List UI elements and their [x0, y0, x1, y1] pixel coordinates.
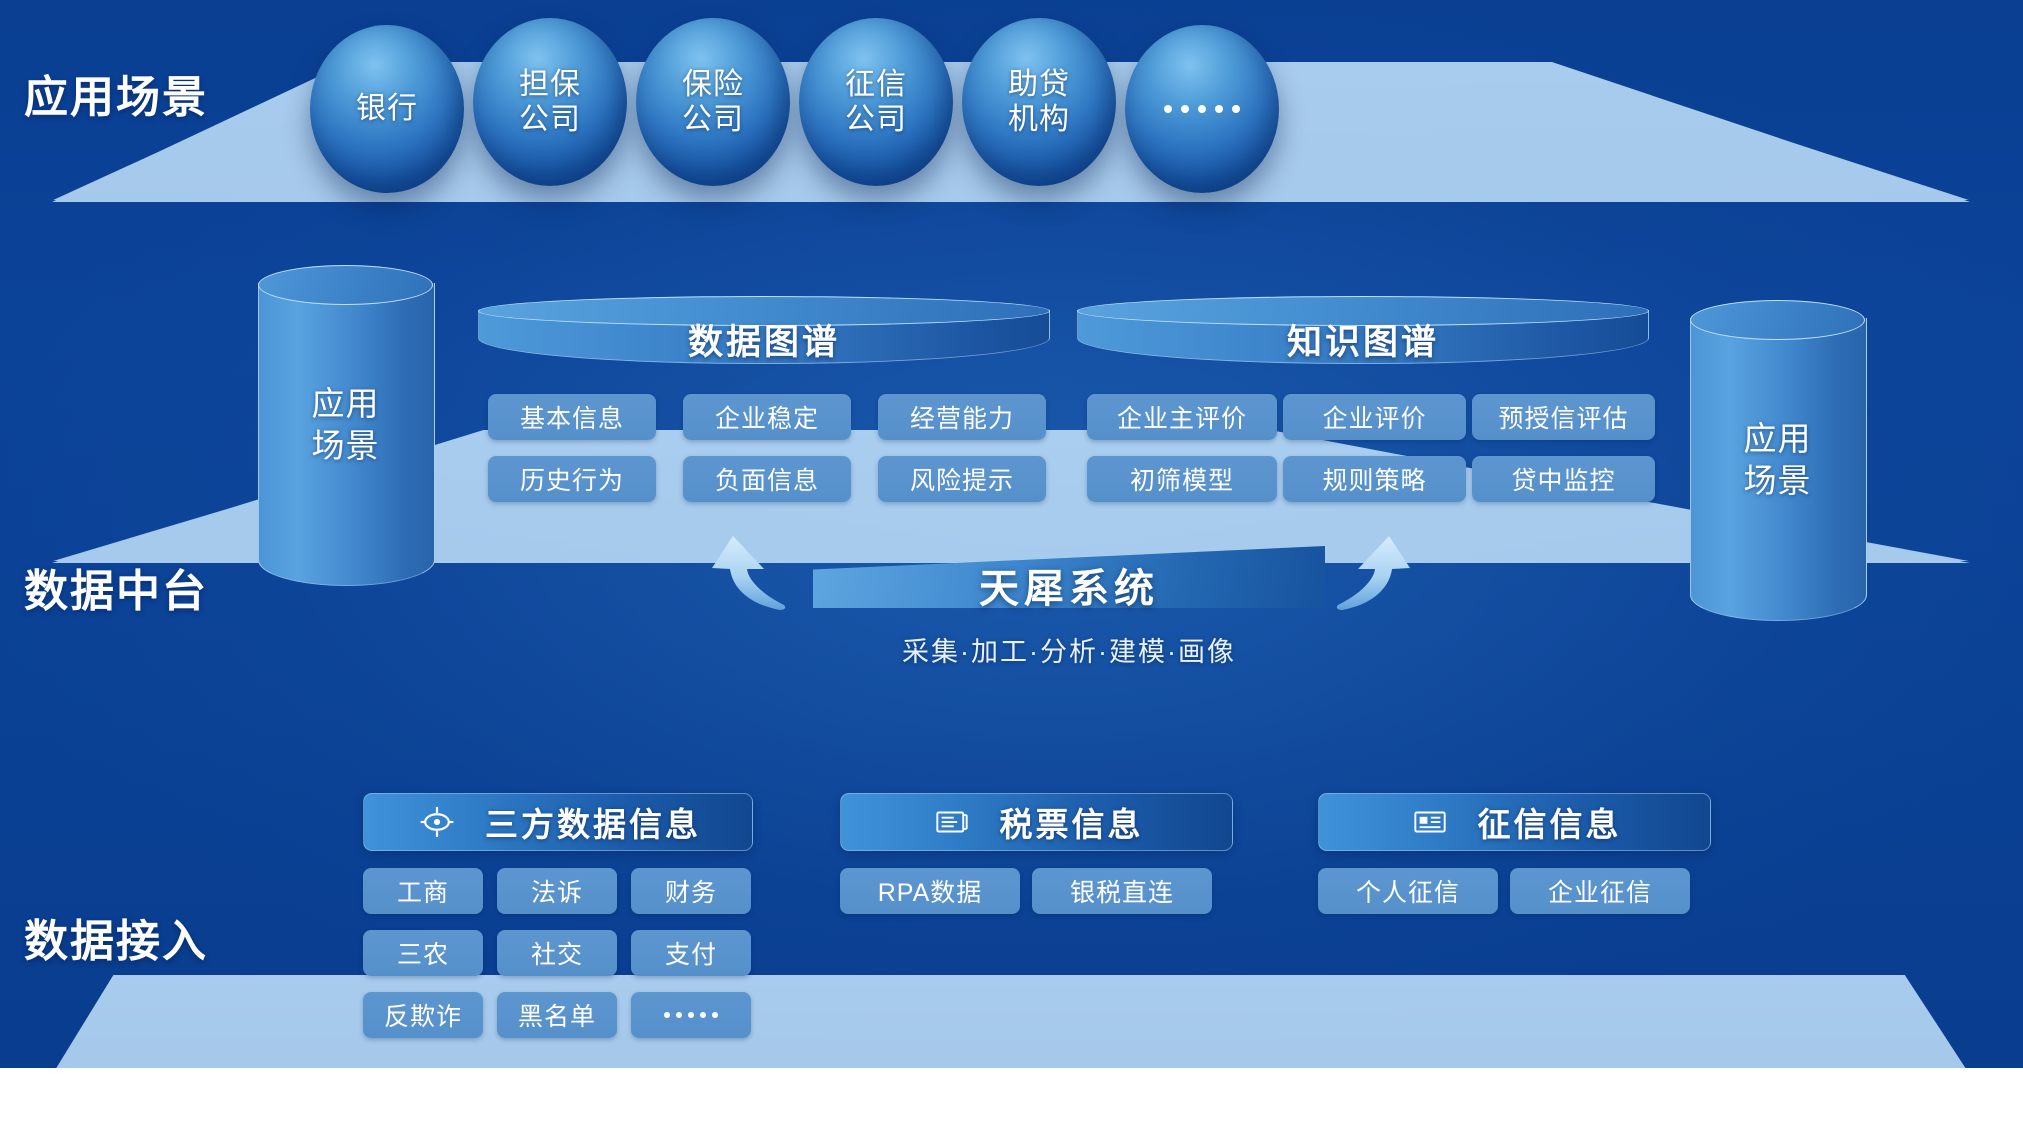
source-title: 征信信息	[1478, 798, 1622, 846]
curved-arrow-left-icon	[710, 528, 796, 620]
source-header-credit-report[interactable]: 征信信息	[1318, 793, 1711, 851]
bottom-white-strip	[0, 1068, 2023, 1130]
pill-data-graph-4[interactable]: 历史行为	[488, 456, 656, 502]
data-graph-title: 数据图谱	[478, 314, 1050, 365]
platform-edge	[52, 975, 1970, 1075]
pill-knowledge-graph-5[interactable]: 规则策略	[1283, 456, 1466, 502]
section-label-data-platform: 数据中台	[24, 570, 208, 614]
pill-third-party-2[interactable]: 法诉	[497, 868, 617, 914]
source-header-third-party-data[interactable]: 三方数据信息	[363, 793, 753, 851]
pill-third-party-7[interactable]: 反欺诈	[363, 992, 483, 1038]
ellipsis-icon	[1164, 105, 1240, 113]
cylinder-application-left[interactable]: 应用 场景	[258, 265, 433, 585]
system-subtitle: 采集·加工·分析·建模·画像	[813, 630, 1325, 669]
pill-third-party-3[interactable]: 财务	[631, 868, 751, 914]
pill-knowledge-graph-2[interactable]: 企业评价	[1283, 394, 1466, 440]
pill-credit-2[interactable]: 企业征信	[1510, 868, 1690, 914]
sphere-bank[interactable]: 银行	[310, 25, 464, 193]
pill-tax-1[interactable]: RPA数据	[840, 868, 1020, 914]
pill-knowledge-graph-3[interactable]: 预授信评估	[1472, 394, 1655, 440]
sphere-credit[interactable]: 征信 公司	[799, 18, 953, 186]
pill-data-graph-1[interactable]: 基本信息	[488, 394, 656, 440]
pill-data-graph-6[interactable]: 风险提示	[878, 456, 1046, 502]
curved-arrow-right-icon	[1326, 528, 1412, 620]
pill-third-party-9[interactable]	[631, 992, 751, 1038]
sphere-insurance[interactable]: 保险 公司	[636, 18, 790, 186]
pill-third-party-4[interactable]: 三农	[363, 930, 483, 976]
sphere-label: 银行	[356, 91, 418, 126]
cylinder-cap	[1690, 300, 1865, 340]
ellipsis-icon	[664, 1012, 718, 1018]
system-title: 天犀系统	[813, 554, 1325, 616]
pill-knowledge-graph-6[interactable]: 贷中监控	[1472, 456, 1655, 502]
knowledge-graph-cylinder[interactable]: 知识图谱	[1077, 296, 1649, 368]
sphere-loanassist[interactable]: 助贷 机构	[962, 18, 1116, 186]
pill-data-graph-2[interactable]: 企业稳定	[683, 394, 851, 440]
source-title: 三方数据信息	[485, 798, 701, 846]
sphere-guarantee[interactable]: 担保 公司	[473, 18, 627, 186]
pill-third-party-6[interactable]: 支付	[631, 930, 751, 976]
cylinder-label: 应用 场景	[1690, 418, 1865, 502]
cylinder-label: 应用 场景	[258, 383, 433, 467]
sphere-label: 担保 公司	[519, 67, 581, 138]
pill-knowledge-graph-4[interactable]: 初筛模型	[1087, 456, 1277, 502]
id-card-icon	[1408, 800, 1452, 844]
section-label-data-access: 数据接入	[24, 920, 208, 964]
sphere-label: 助贷 机构	[1008, 67, 1070, 138]
pill-knowledge-graph-1[interactable]: 企业主评价	[1087, 394, 1277, 440]
cylinder-cap	[258, 265, 433, 305]
data-graph-cylinder[interactable]: 数据图谱	[478, 296, 1050, 368]
sphere-label: 征信 公司	[845, 67, 907, 138]
sphere-label: 保险 公司	[682, 67, 744, 138]
pill-third-party-5[interactable]: 社交	[497, 930, 617, 976]
pill-data-graph-3[interactable]: 经营能力	[878, 394, 1046, 440]
sphere-more[interactable]	[1125, 25, 1279, 193]
target-icon	[415, 800, 459, 844]
pill-tax-2[interactable]: 银税直连	[1032, 868, 1212, 914]
pill-third-party-1[interactable]: 工商	[363, 868, 483, 914]
knowledge-graph-title: 知识图谱	[1077, 314, 1649, 365]
source-title: 税票信息	[1000, 798, 1144, 846]
pill-credit-1[interactable]: 个人征信	[1318, 868, 1498, 914]
data-access-layer-platform	[52, 975, 1970, 1075]
architecture-diagram: 应用场景 数据中台 数据接入 银行 担保 公司 保险 公司 征信 公司 助贷 机…	[0, 0, 2023, 1130]
pill-third-party-8[interactable]: 黑名单	[497, 992, 617, 1038]
invoice-icon	[930, 800, 974, 844]
cylinder-application-right[interactable]: 应用 场景	[1690, 300, 1865, 620]
section-label-application: 应用场景	[24, 76, 208, 120]
source-header-tax-invoice[interactable]: 税票信息	[840, 793, 1233, 851]
pill-data-graph-5[interactable]: 负面信息	[683, 456, 851, 502]
